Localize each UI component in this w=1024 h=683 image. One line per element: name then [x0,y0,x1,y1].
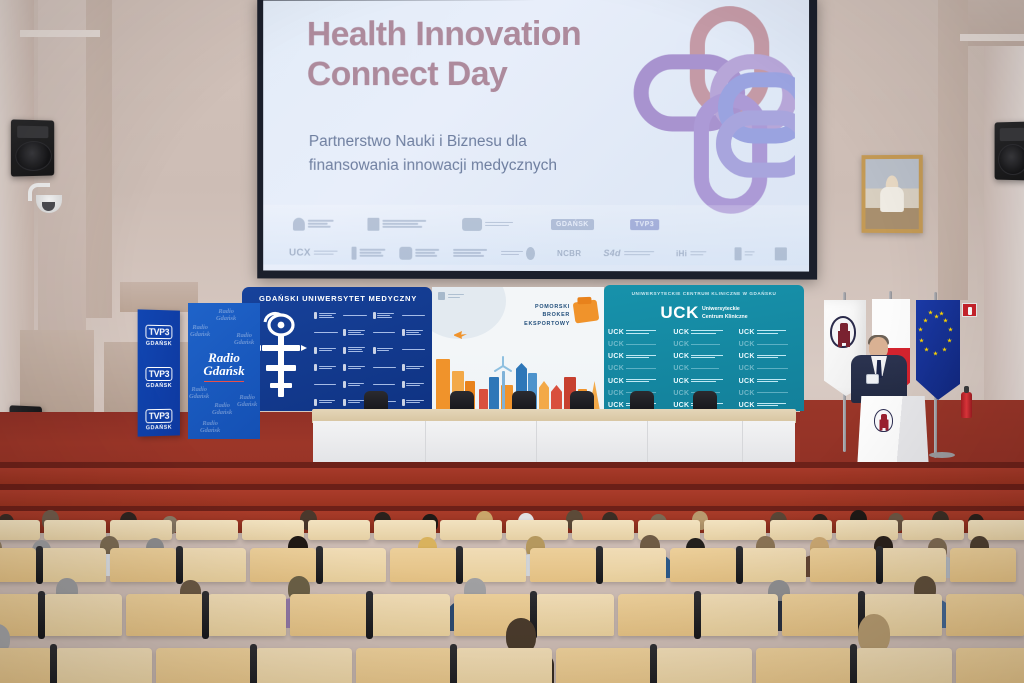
radio-gdansk-ghost-mark: RadioGdańsk [216,309,236,322]
partner-logo-row-2: UCX NCBR S4d iHi [289,240,783,267]
projection-screen: Health Innovation Connect Day Partnerstw… [257,0,817,280]
slide-title-line1: Health Innovation [307,15,581,53]
backdrop-logo-cell [314,396,340,409]
tvp3-logo-icon: TVP3 [630,219,659,230]
projected-slide: Health Innovation Connect Day Partnerstw… [263,0,809,272]
backdrop-logo-cell [402,396,428,409]
table-panel-seam [536,421,537,463]
export-box-icon [573,299,600,323]
uck-wordmark: UCK [660,303,699,322]
uck-sub-line2: Centrum Kliniczne [702,314,748,322]
ucx-logo-icon: UCX [289,247,338,258]
uck-repeat-mark: UCK [739,329,800,336]
backdrop-logo-cell [343,344,369,357]
uck-repeat-mark: UCK [608,353,669,360]
backdrop-logo-cell [314,326,340,339]
speaker-lanyard-badge [866,374,879,384]
pomorskie-logo-icon [462,217,513,230]
backdrop-gumed-title: GDAŃSKI UNIWERSYTET MEDYCZNY [250,294,426,303]
framed-portrait [862,155,923,233]
podium-crest-icon [874,409,893,432]
uck-repeat-mark: UCK [608,365,669,372]
fire-extinguisher [961,392,972,418]
backdrop-logo-cell [343,326,369,339]
miasto-logo-icon [501,246,535,259]
slide-title-line2: Connect Day [307,54,581,94]
tvp3-logo: TVP3 [146,367,172,381]
backdrop-uck-header: UNIWERSYTECKIE CENTRUM KLINICZNE W GDAŃS… [604,291,804,296]
table-panel-seam [647,421,648,463]
pbe-line3: EKSPORTOWY [524,320,570,328]
stage-chair [450,391,474,411]
backdrop-logo-cell [314,309,340,322]
wall-door-left [120,282,198,312]
wall-speaker-right [995,122,1024,181]
uck-repeat-mark: UCK [673,353,734,360]
wall-pilaster-right [938,0,968,300]
podium [857,396,929,470]
wall-trim-left [20,30,100,37]
university-flag-crest-icon [830,316,856,348]
uck-repeat-mark: UCK [739,365,800,372]
wall-trim-right [960,34,1024,41]
godlo-polski-logo-icon [293,217,334,230]
tvp3-city: GDAŃSK [138,424,180,431]
tvp3-unit: TVP3 GDAŃSK [138,321,180,347]
stage-chair [512,391,536,411]
uck-repeat-mark: UCK [673,365,734,372]
wall-pilaster-1 [86,0,112,318]
uck-repeat-mark: UCK [608,329,669,336]
slide-subtitle-line2: finansowania innowacji medycznych [309,154,557,178]
stage-table-front [313,421,795,463]
portrait-painting [865,159,918,229]
slide-subtitle: Partnerstwo Nauki i Biznesu dla finansow… [309,130,557,178]
centrum-transferu-logo-icon [399,246,439,259]
stage-chair [570,391,594,411]
ministerstwo-logo-icon [367,217,426,230]
table-panel-seam [425,421,426,463]
backdrop-logo-cell [402,378,428,391]
slide-title: Health Innovation Connect Day [307,14,581,94]
pbe-line2: BROKER [524,311,570,319]
uck-repeat-mark: UCK [673,329,734,336]
pbe-line1: POMORSKI [524,303,570,311]
rollup-banner-radio-gdansk: RadioGdańsk RadioGdańsk RadioGdańsk Radi… [188,303,260,439]
gdansk-logo-icon: GDAŃSK [551,219,594,230]
stage-chair [693,391,717,411]
backdrop-logo-cell [373,326,399,339]
backdrop-pbe-corner-logo-icon [438,292,464,300]
radio-line2: Gdańsk [203,363,244,378]
ihi-logo-icon: iHi [676,249,706,258]
partner-logo-row-1: GDAŃSK TVP3 [289,211,783,238]
rollup-banner-tvp3-gdansk: TVP3 GDAŃSK TVP3 GDAŃSK TVP3 GDAŃSK [138,309,180,436]
backdrop-logo-cell [373,309,399,322]
backdrop-logo-cell [402,326,428,339]
uck-repeat-mark: UCK [739,341,800,348]
partner-logo-9-icon [734,247,754,260]
backdrop-logo-cell [402,344,428,357]
fire-extinguisher-sign-icon [962,303,977,317]
uck-repeat-mark: UCK [739,378,800,385]
audience-seating [0,498,1024,683]
backdrop-logo-cell [402,361,428,374]
backdrop-logo-cell [373,378,399,391]
radio-gdansk-ghost-mark: RadioGdańsk [212,403,232,416]
partner-logo-strip: GDAŃSK TVP3 UCX NCBR S4d iHi [263,205,809,266]
stage-chair [630,391,654,411]
stage-chair [364,391,388,411]
backdrop-gumed: GDAŃSKI UNIWERSYTET MEDYCZNY [242,287,432,411]
radio-gdansk-ghost-mark: RadioGdańsk [190,325,210,338]
uck-sub-line1: Uniwersyteckie [702,306,748,314]
tvp3-unit: TVP3 GDAŃSK [138,406,180,432]
auditorium-scene: Health Innovation Connect Day Partnerstw… [0,0,1024,683]
tvp3-logo: TVP3 [146,325,172,340]
radio-gdansk-ghost-mark: RadioGdańsk [200,421,220,434]
slide-subtitle-line1: Partnerstwo Nauki i Biznesu dla [309,130,557,154]
european-union-flag [916,300,960,400]
uck-repeat-mark: UCK [739,402,800,409]
uck-repeat-mark: UCK [673,341,734,348]
radio-gdansk-ghost-mark: RadioGdańsk [234,333,254,346]
tvp3-city: GDAŃSK [138,341,180,348]
backdrop-logo-cell [314,378,340,391]
backdrop-logo-cell [314,344,340,357]
tvp3-unit: TVP3 GDAŃSK [138,364,180,389]
uck-repeat-mark: UCK [608,341,669,348]
uck-repeat-mark: UCK [673,378,734,385]
ncbr-logo-icon: NCBR [557,249,581,258]
backdrop-logo-cell [343,309,369,322]
backdrop-logo-cell [343,361,369,374]
uniwersytet-logo-icon [352,246,386,259]
uck-repeat-mark: UCK [739,353,800,360]
uck-repeat-mark: UCK [739,390,800,397]
backdrop-pbe-text: POMORSKI BROKER EKSPORTOWY [524,303,570,328]
table-panel-seam [742,421,743,463]
backdrop-logo-cell [343,378,369,391]
uck-repeat-mark: UCK [608,378,669,385]
backdrop-logo-cell [314,361,340,374]
partner-logo-10-icon [775,247,787,260]
radio-gdansk-wordmark: Radio Gdańsk [188,351,260,382]
backdrop-uck-logo: UCK Uniwersyteckie Centrum Kliniczne [604,303,804,323]
backdrop-logo-cell [373,361,399,374]
s4d-logo-icon: S4d [603,248,654,258]
backdrop-logo-cell [402,309,428,322]
radio-gdansk-ghost-mark: RadioGdańsk [189,387,209,400]
wind-turbine-icon [492,355,514,377]
slide-artwork-logo [619,5,795,221]
backdrop-logo-cell [373,344,399,357]
flag-stand-base [929,452,955,458]
stage-step-1 [0,468,1024,484]
radio-gdansk-ghost-mark: RadioGdańsk [237,395,257,408]
tvp3-city: GDAŃSK [138,383,180,389]
tvp3-logo: TVP3 [146,409,172,424]
wall-speaker-left [11,119,54,176]
instytut-logo-icon [453,249,487,257]
gumed-emblem-icon [252,309,310,401]
